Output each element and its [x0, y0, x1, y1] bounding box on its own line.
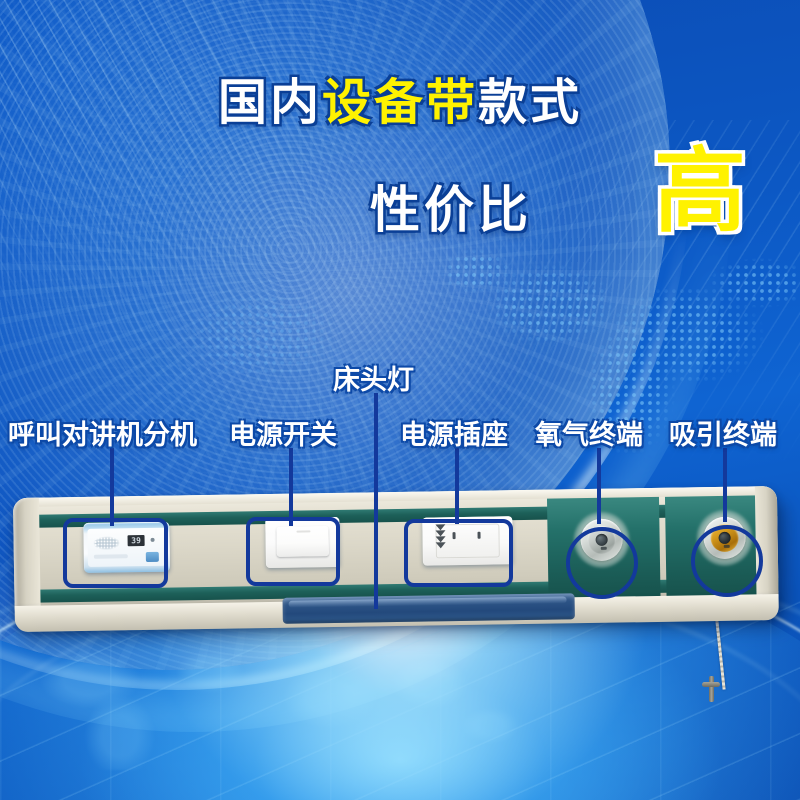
highlight-box-power-socket — [404, 519, 513, 587]
pull-cord-handle-cross — [702, 682, 720, 687]
highlight-box-intercom — [63, 518, 168, 588]
leader-line-suction — [723, 448, 727, 522]
highlight-box-power-switch — [246, 517, 340, 586]
callout-label-suction-terminal: 吸引终端 — [669, 413, 777, 452]
pull-cord-handle[interactable] — [702, 676, 720, 702]
callout-label-oxygen-terminal: 氧气终端 — [535, 413, 643, 452]
poster-canvas: 国内设备带款式 性价比 高 呼叫对讲机分机 电源开关 床头灯 电源插座 氧气终端… — [0, 0, 800, 800]
pull-cord-handle-stem — [709, 676, 714, 702]
diffuser-gloss-highlight — [289, 596, 567, 607]
bedhead-lamp-diffuser[interactable] — [283, 593, 575, 624]
leader-line-power-socket — [455, 448, 459, 524]
callout-label-power-socket: 电源插座 — [400, 413, 508, 452]
leader-line-intercom — [110, 448, 114, 526]
callout-label-power-switch: 电源开关 — [229, 413, 337, 452]
panel-end-cap-left — [13, 498, 41, 622]
highlight-circle-oxygen — [566, 527, 638, 599]
leader-line-power-switch — [289, 448, 293, 526]
vertical-grid-lines — [0, 620, 800, 800]
leader-line-bedhead-lamp — [374, 393, 378, 609]
highlight-circle-suction — [691, 525, 763, 597]
callout-label-bedhead-lamp: 床头灯 — [333, 358, 414, 397]
leader-line-oxygen — [597, 448, 601, 524]
callout-label-intercom-extension: 呼叫对讲机分机 — [8, 413, 197, 452]
